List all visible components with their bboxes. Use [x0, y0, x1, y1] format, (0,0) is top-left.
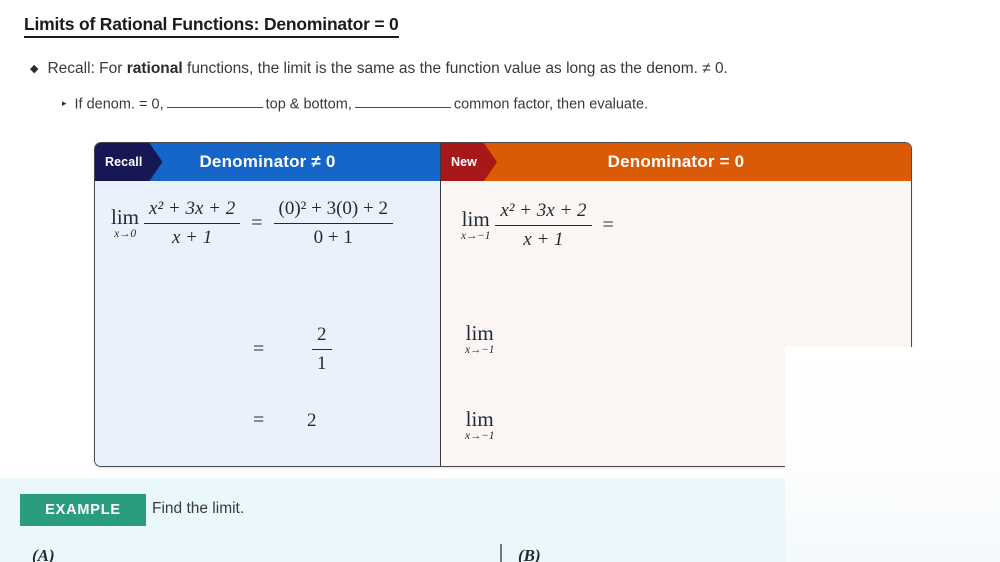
result-fraction: 2 1 — [312, 323, 332, 376]
recall-row-1: lim x→0 x² + 3x + 2 x + 1 = (0)² + 3(0) … — [111, 197, 398, 250]
new-row-3: lim x→−1 — [465, 409, 494, 443]
bullet-primary-text-after: functions, the limit is the same as the … — [183, 60, 728, 77]
limit-operator: lim x→−1 — [465, 409, 494, 443]
part-b-label: (B) — [518, 546, 541, 562]
example-instruction: Find the limit. — [152, 500, 244, 518]
equals-sign: = — [251, 212, 262, 235]
limit-lim-label: lim — [111, 207, 139, 228]
limit-subscript: x→−1 — [465, 431, 494, 443]
equals-sign: = — [253, 409, 301, 432]
substituted-numerator: (0)² + 3(0) + 2 — [274, 197, 393, 224]
limit-subscript: x→0 — [114, 229, 136, 241]
column-header-recall-label: Denominator ≠ 0 — [199, 152, 335, 172]
equals-sign: = — [603, 214, 614, 237]
limit-operator: lim x→0 — [111, 207, 139, 241]
new-row-1: lim x→−1 x² + 3x + 2 x + 1 = — [461, 199, 620, 252]
bullet-primary-bold-word: rational — [127, 60, 183, 77]
recall-tag: Recall — [95, 143, 162, 181]
limit-fraction: x² + 3x + 2 x + 1 — [144, 197, 240, 250]
fraction-denominator: x + 1 — [518, 226, 568, 252]
comparison-table: Recall Denominator ≠ 0 lim x→0 x² + 3x +… — [94, 142, 912, 467]
fraction-numerator: x² + 3x + 2 — [144, 197, 240, 224]
bullet-secondary: ▸ If denom. = 0,top & bottom,common fact… — [62, 96, 648, 112]
page-title: Limits of Rational Functions: Denominato… — [24, 14, 399, 38]
substituted-denominator: 0 + 1 — [309, 224, 358, 250]
result-numerator: 2 — [312, 323, 332, 350]
bullet-secondary-part2: top & bottom, — [266, 96, 352, 112]
equals-sign: = — [253, 338, 301, 361]
bullet-secondary-text: If denom. = 0,top & bottom,common factor… — [75, 96, 649, 112]
fraction-numerator: x² + 3x + 2 — [495, 199, 591, 226]
limit-lim-label: lim — [466, 409, 494, 430]
part-a-label: (A) — [32, 546, 55, 562]
final-result-value: 2 — [307, 410, 317, 432]
bullet-secondary-part1: If denom. = 0, — [75, 96, 164, 112]
bullet-primary: ◆ Recall: For rational functions, the li… — [30, 60, 728, 78]
bullet-primary-text: Recall: For rational functions, the limi… — [47, 60, 728, 78]
limit-operator: lim x→−1 — [465, 323, 494, 357]
column-body-recall: lim x→0 x² + 3x + 2 x + 1 = (0)² + 3(0) … — [95, 181, 440, 466]
limit-subscript: x→−1 — [465, 345, 494, 357]
fraction-denominator: x + 1 — [167, 224, 217, 250]
column-header-new: New Denominator = 0 — [441, 143, 911, 181]
example-badge: EXAMPLE — [20, 494, 146, 526]
column-header-recall: Recall Denominator ≠ 0 — [95, 143, 440, 181]
table-column-new: New Denominator = 0 lim x→−1 x² + 3x + 2… — [441, 143, 911, 466]
column-header-new-label: Denominator = 0 — [608, 152, 745, 172]
column-body-new: lim x→−1 x² + 3x + 2 x + 1 = lim x→−1 li… — [441, 181, 911, 466]
fill-in-blank-1[interactable] — [167, 96, 263, 108]
limit-fraction: x² + 3x + 2 x + 1 — [495, 199, 591, 252]
parts-divider — [500, 544, 502, 562]
limit-subscript: x→−1 — [461, 231, 490, 243]
bullet-secondary-part3: common factor, then evaluate. — [454, 96, 648, 112]
result-denominator: 1 — [312, 350, 332, 376]
new-row-2: lim x→−1 — [465, 323, 494, 357]
table-column-recall: Recall Denominator ≠ 0 lim x→0 x² + 3x +… — [95, 143, 441, 466]
limit-lim-label: lim — [462, 209, 490, 230]
fill-in-blank-2[interactable] — [355, 96, 451, 108]
new-tag: New — [441, 143, 497, 181]
limit-operator: lim x→−1 — [461, 209, 490, 243]
substituted-fraction: (0)² + 3(0) + 2 0 + 1 — [274, 197, 393, 250]
recall-row-3: = 2 — [247, 409, 317, 432]
diamond-bullet-icon: ◆ — [30, 64, 38, 75]
triangle-bullet-icon: ▸ — [62, 99, 67, 108]
recall-row-2: = 2 1 — [247, 323, 337, 376]
limit-lim-label: lim — [466, 323, 494, 344]
bullet-primary-text-before: Recall: For — [47, 60, 126, 77]
